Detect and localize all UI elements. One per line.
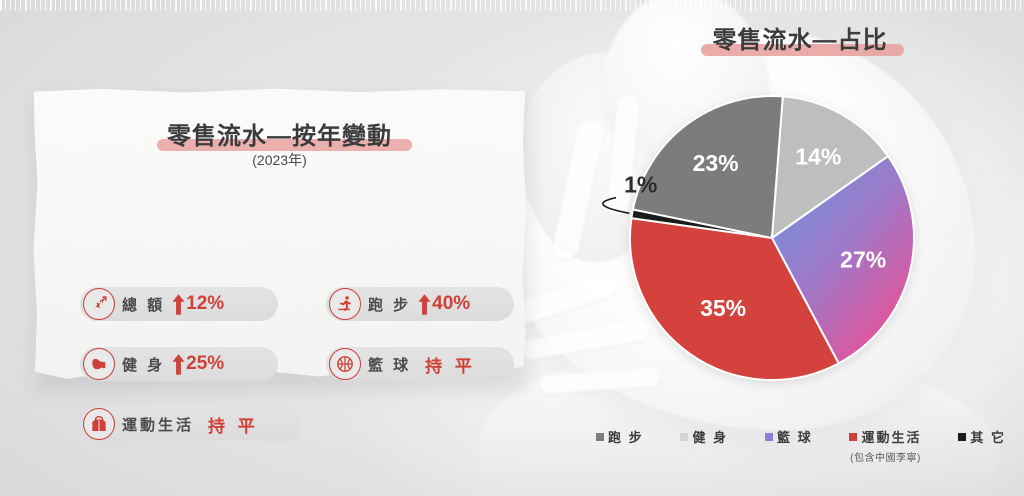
pie-slice-label-運動生活: 35% [700, 295, 746, 321]
legend-label: 籃 球 [777, 427, 813, 446]
stat-value: 持 平 [208, 412, 259, 437]
legend-swatch-icon [765, 433, 773, 441]
legend-row: 跑 步 [596, 427, 644, 446]
pie-slice-label-健身: 14% [795, 144, 841, 170]
stat-value-group: 40% [418, 293, 470, 315]
ruler-tick-strip [0, 0, 1024, 11]
stat-pill-basketball[interactable]: 籃 球 持 平 [326, 347, 514, 381]
pie-slice-label-其它: 1% [624, 172, 657, 198]
legend-item-籃球[interactable]: 籃 球 [765, 427, 813, 446]
pie-callout-line [603, 198, 629, 214]
stat-pill-sportslife[interactable]: 運動生活 持 平 [80, 407, 302, 441]
legend-item-健身[interactable]: 健 身 [680, 427, 728, 446]
growth-arrow-icon [83, 288, 115, 320]
legend-row: 其 它 [958, 427, 1006, 446]
stat-value: 25% [186, 353, 224, 375]
pie-title: 零售流水—占比 [707, 20, 894, 55]
legend-row: 運動生活 [849, 427, 921, 446]
legend-row: 健 身 [680, 427, 728, 446]
up-arrow-icon [172, 294, 185, 315]
legend-swatch-icon [849, 433, 857, 441]
stat-pill-running[interactable]: 跑 步 40% [326, 287, 514, 321]
stat-value-group: 25% [172, 353, 224, 375]
card-title-container: 零售流水—按年變動 [32, 116, 527, 151]
stat-pill-fitness[interactable]: 健 身 25% [80, 347, 278, 381]
stat-label: 籃 球 [368, 354, 411, 375]
stat-label: 跑 步 [368, 294, 411, 315]
legend-swatch-icon [596, 433, 604, 441]
stat-value: 12% [186, 293, 224, 315]
pie-slices-group [630, 96, 914, 380]
legend-label: 跑 步 [608, 427, 644, 446]
legend-label: 運動生活 [861, 427, 921, 446]
retail-yoy-card: 零售流水—按年變動 (2023年) 總 額 12% 跑 步 [32, 88, 527, 386]
stat-value-group: 12% [172, 293, 224, 315]
hoodie-icon [83, 408, 115, 440]
card-subtitle: (2023年) [32, 150, 527, 170]
legend-row: 籃 球 [765, 427, 813, 446]
legend-label: 其 它 [970, 427, 1006, 446]
legend-swatch-icon [680, 433, 688, 441]
up-arrow-icon [172, 354, 185, 375]
legend-item-跑步[interactable]: 跑 步 [596, 427, 644, 446]
retail-share-pie-chart: 23%14%27%35% 1% [590, 60, 990, 420]
pie-slice-label-跑步: 23% [693, 150, 739, 176]
pie-title-text: 零售流水—占比 [713, 27, 888, 54]
stat-label: 運動生活 [122, 414, 194, 435]
card-title: 零售流水—按年變動 [161, 116, 398, 151]
pie-title-container: 零售流水—占比 [600, 20, 1000, 55]
running-person-icon [329, 288, 361, 320]
legend-sublabel: (包含中國李寧) [850, 449, 921, 464]
pie-chart-svg: 23%14%27%35% 1% [590, 60, 990, 420]
stat-value: 持 平 [425, 352, 476, 377]
stat-label: 總 額 [122, 294, 165, 315]
legend-swatch-icon [958, 433, 966, 441]
legend-item-其它[interactable]: 其 它 [958, 427, 1006, 446]
legend-label: 健 身 [692, 427, 728, 446]
up-arrow-icon [418, 294, 431, 315]
pie-slice-label-籃球: 27% [840, 247, 886, 273]
ruler-major-ticks [0, 0, 1024, 11]
card-title-text: 零售流水—按年變動 [167, 123, 392, 150]
pie-legend: 跑 步健 身籃 球運動生活(包含中國李寧)其 它 [596, 427, 1006, 464]
basketball-icon [329, 348, 361, 380]
stat-label: 健 身 [122, 354, 165, 375]
stat-pill-total[interactable]: 總 額 12% [80, 287, 278, 321]
stat-value: 40% [432, 293, 470, 315]
legend-item-運動生活[interactable]: 運動生活(包含中國李寧) [849, 427, 921, 464]
flexed-bicep-icon [83, 348, 115, 380]
